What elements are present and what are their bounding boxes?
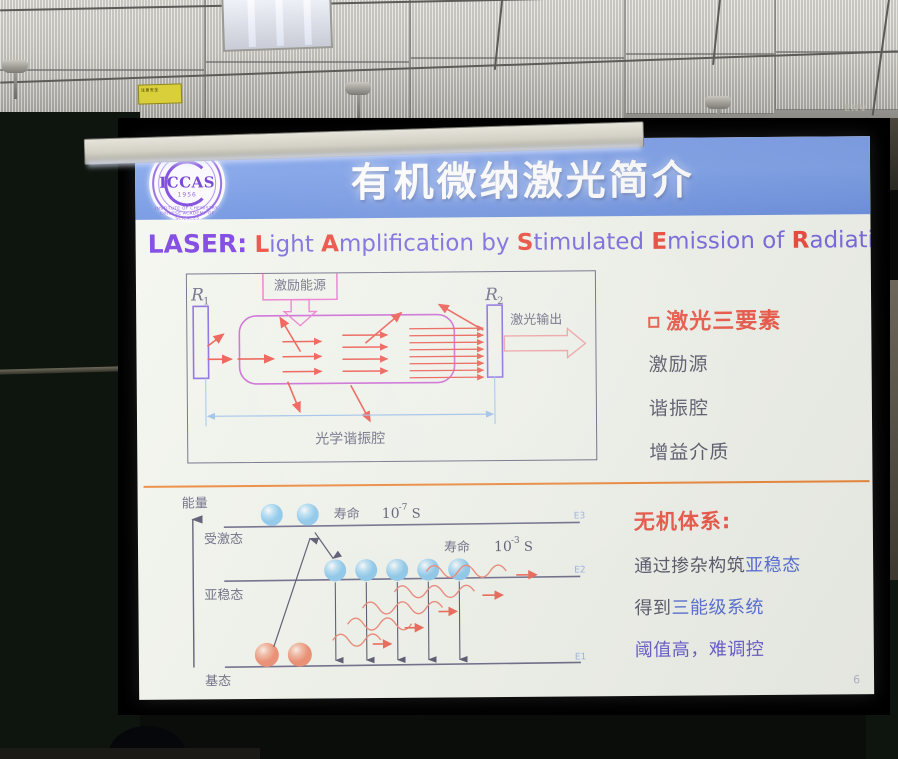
bullet-square-icon: [648, 317, 659, 328]
acronym-word-4-rest: mission: [667, 228, 755, 255]
recessed-ceiling-light: [221, 0, 333, 52]
three-elements-heading: 激光三要素: [648, 302, 858, 336]
svg-text:激光输出: 激光输出: [510, 312, 562, 328]
three-elements-item-1: 谐振腔: [649, 392, 859, 421]
svg-text:-7: -7: [399, 503, 408, 513]
section-divider: [144, 480, 870, 488]
svg-text:E2: E2: [574, 565, 586, 575]
svg-text:R: R: [484, 285, 498, 305]
safety-warning-label: 注意安全: [138, 83, 183, 104]
env-tag: ENV: [844, 104, 868, 114]
svg-text:E3: E3: [574, 511, 586, 521]
inorganic-systems-block: 无机体系: 通过掺杂构筑亚稳态 得到三能级系统 阈值高，难调控: [634, 504, 871, 678]
inorganic-line-2: 阈值高，难调控: [635, 634, 871, 662]
acronym-word-4-initial: E: [651, 229, 667, 255]
inorganic-line-0: 通过掺杂构筑亚稳态: [634, 550, 870, 578]
laser-prefix: LASER:: [148, 229, 248, 259]
acronym-word-0-initial: L: [254, 232, 269, 258]
inorganic-heading: 无机体系:: [634, 504, 870, 536]
svg-text:S: S: [524, 540, 533, 555]
slide-page-number: 6: [853, 673, 860, 686]
inorganic-line-2-blue: 阈值高，难调控: [635, 639, 765, 661]
three-elements-item-2: 增益介质: [649, 436, 859, 465]
svg-text:亚稳态: 亚稳态: [204, 587, 243, 603]
acronym-word-5: of: [762, 228, 784, 254]
acronym-word-4: Emission: [651, 228, 755, 255]
logo-arc-bottom: INSTITUTE OF CHEMISTRY, CHINESE ACADEMY …: [149, 205, 225, 221]
svg-text:激励能源: 激励能源: [274, 278, 326, 293]
acronym-word-6-rest: adiation: [809, 227, 874, 254]
acronym-word-6: Radiation: [792, 227, 875, 254]
svg-text:寿命: 寿命: [334, 506, 360, 522]
svg-text:10: 10: [494, 539, 512, 555]
laser-cavity-diagram: R 1 R 2 激励能源: [186, 270, 597, 463]
energy-level-diagram: 能量 E3 受激态 寿命 10 -7 S E2 亚稳态: [176, 492, 598, 691]
svg-text:S: S: [412, 507, 421, 522]
acronym-word-0: Light: [254, 231, 313, 257]
three-elements-heading-text: 激光三要素: [666, 309, 781, 335]
acronym-word-3: Stimulated: [517, 229, 644, 256]
svg-text:能量: 能量: [182, 496, 208, 511]
svg-text:1: 1: [203, 296, 209, 307]
acronym-word-3-initial: S: [517, 230, 534, 256]
svg-text:寿命: 寿命: [444, 539, 470, 555]
inorganic-line-1-blue: 三能级系统: [671, 597, 764, 619]
sprinkler-head-right: [705, 96, 731, 118]
acronym-word-6-initial: R: [792, 228, 810, 254]
acronym-word-2: by: [481, 230, 509, 256]
desk-edge: [0, 748, 260, 759]
acronym-word-5-rest: of: [762, 228, 784, 254]
acronym-word-1: Amplification: [321, 230, 474, 257]
svg-text:基态: 基态: [205, 674, 231, 689]
svg-text:-3: -3: [511, 536, 520, 546]
three-elements-list: 激光三要素 激励源 谐振腔 增益介质: [648, 302, 859, 482]
acronym-word-0-rest: ight: [269, 231, 314, 257]
svg-text:光学谐振腔: 光学谐振腔: [315, 431, 385, 448]
acronym-word-2-rest: by: [481, 230, 509, 256]
three-elements-item-0: 激励源: [648, 348, 858, 377]
svg-text:2: 2: [497, 296, 503, 307]
sprinkler-head-center: [345, 82, 371, 118]
inorganic-line-0-plain: 通过掺杂构筑: [634, 555, 745, 577]
ceiling: [0, 0, 898, 118]
inorganic-line-0-blue: 亚稳态: [745, 555, 801, 576]
acronym-word-1-initial: A: [321, 231, 339, 257]
svg-text:受激态: 受激态: [204, 532, 243, 547]
cavity-svg: R 1 R 2 激励能源: [187, 271, 598, 464]
sprinkler-head-left: [2, 60, 28, 99]
presentation-slide: 有机微纳激光简介 中国科学院化学研究所 ICCAS 1956 INSTITUTE…: [135, 136, 874, 700]
svg-text:E1: E1: [575, 652, 587, 662]
energy-svg: 能量 E3 受激态 寿命 10 -7 S E2 亚稳态: [176, 492, 598, 691]
logo-text: ICCAS: [149, 173, 225, 192]
logo-year: 1956: [149, 191, 225, 199]
inorganic-line-1: 得到三能级系统: [634, 592, 870, 620]
lecture-hall-photo: 注意安全 ENV 有机微纳激光简介 中国科学院化学研究所 ICCAS 1956 …: [0, 0, 898, 759]
acronym-word-3-rest: timulated: [533, 229, 644, 256]
acronym-word-1-rest: mplification: [339, 230, 474, 257]
svg-text:R: R: [190, 285, 204, 305]
svg-text:10: 10: [382, 506, 400, 522]
inorganic-line-1-plain: 得到: [634, 598, 671, 619]
laser-acronym-line: LASER: Light Amplification by Stimulated…: [148, 224, 868, 259]
